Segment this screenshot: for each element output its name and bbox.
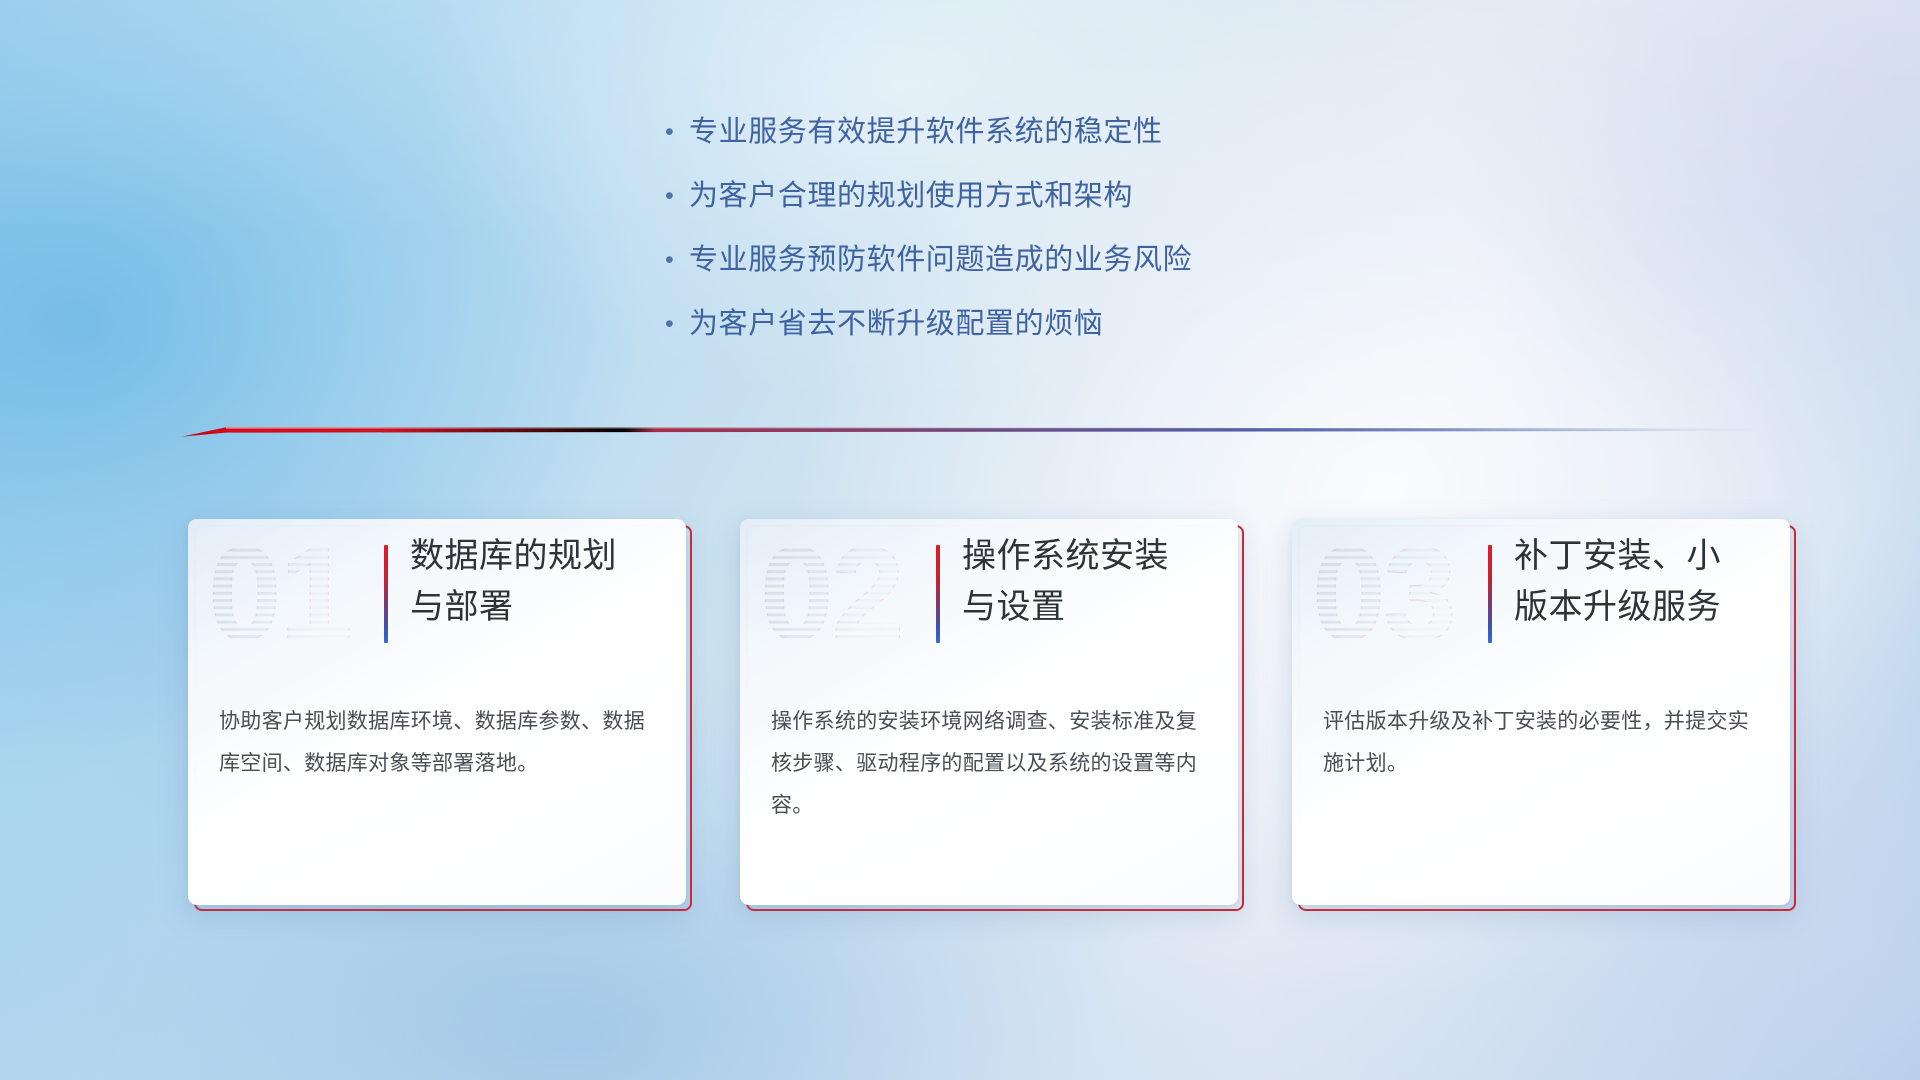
list-item: • 为客户合理的规划使用方式和架构 xyxy=(665,176,1192,240)
card-description: 评估版本升级及补丁安装的必要性，并提交实施计划。 xyxy=(1323,701,1759,785)
bullet-dot-icon: • xyxy=(665,176,689,216)
card-number-01-icon: 01 01 xyxy=(206,527,370,661)
card-title-line-1: 数据库的规划 xyxy=(410,531,676,582)
tapered-accent-line-icon xyxy=(182,418,1760,444)
list-item: • 为客户省去不断升级配置的烦恼 xyxy=(665,304,1192,368)
svg-text:03: 03 xyxy=(1312,527,1455,661)
bullet-text: 为客户合理的规划使用方式和架构 xyxy=(689,176,1133,216)
card-header: 01 01 数据库的规划 与部署 xyxy=(188,519,686,669)
card-number-03-icon: 03 03 xyxy=(1310,527,1474,661)
card-number-02-icon: 02 02 xyxy=(758,527,922,661)
svg-text:02: 02 xyxy=(760,527,903,661)
card-title: 数据库的规划 与部署 xyxy=(410,531,676,633)
card-title-line-2: 版本升级服务 xyxy=(1514,582,1780,633)
svg-text:01: 01 xyxy=(208,527,351,661)
card-description: 操作系统的安装环境网络调查、安装标准及复核步骤、驱动程序的配置以及系统的设置等内… xyxy=(771,701,1207,827)
bullet-dot-icon: • xyxy=(665,240,689,280)
card-accent-rule xyxy=(1488,545,1492,643)
card-accent-rule xyxy=(936,545,940,643)
svg-text:03: 03 xyxy=(1312,527,1455,661)
card-title-line-1: 操作系统安装 xyxy=(962,531,1228,582)
card-title-line-1: 补丁安装、小 xyxy=(1514,531,1780,582)
bullet-text: 专业服务有效提升软件系统的稳定性 xyxy=(689,112,1163,152)
card-description: 协助客户规划数据库环境、数据库参数、数据库空间、数据库对象等部署落地。 xyxy=(219,701,655,785)
section-divider xyxy=(182,418,1760,444)
card-accent-rule xyxy=(384,545,388,643)
bullet-text: 为客户省去不断升级配置的烦恼 xyxy=(689,304,1103,344)
card-header: 02 02 操作系统安装 与设置 xyxy=(740,519,1238,669)
bullet-dot-icon: • xyxy=(665,112,689,152)
card-title-line-2: 与部署 xyxy=(410,582,676,633)
card-title: 操作系统安装 与设置 xyxy=(962,531,1228,633)
benefits-bullet-list: • 专业服务有效提升软件系统的稳定性 • 为客户合理的规划使用方式和架构 • 专… xyxy=(665,112,1192,368)
svg-text:01: 01 xyxy=(208,527,351,661)
card-header: 03 03 补丁安装、小 版本升级服务 xyxy=(1292,519,1790,669)
list-item: • 专业服务有效提升软件系统的稳定性 xyxy=(665,112,1192,176)
bullet-dot-icon: • xyxy=(665,304,689,344)
svg-text:02: 02 xyxy=(760,527,903,661)
card-title: 补丁安装、小 版本升级服务 xyxy=(1514,531,1780,633)
service-card-group: 01 01 数据库的规划 与部署 协助客户规划数据库环境、数据库参数、数据库空间… xyxy=(0,519,1920,939)
list-item: • 专业服务预防软件问题造成的业务风险 xyxy=(665,240,1192,304)
bullet-text: 专业服务预防软件问题造成的业务风险 xyxy=(689,240,1192,280)
card-title-line-2: 与设置 xyxy=(962,582,1228,633)
